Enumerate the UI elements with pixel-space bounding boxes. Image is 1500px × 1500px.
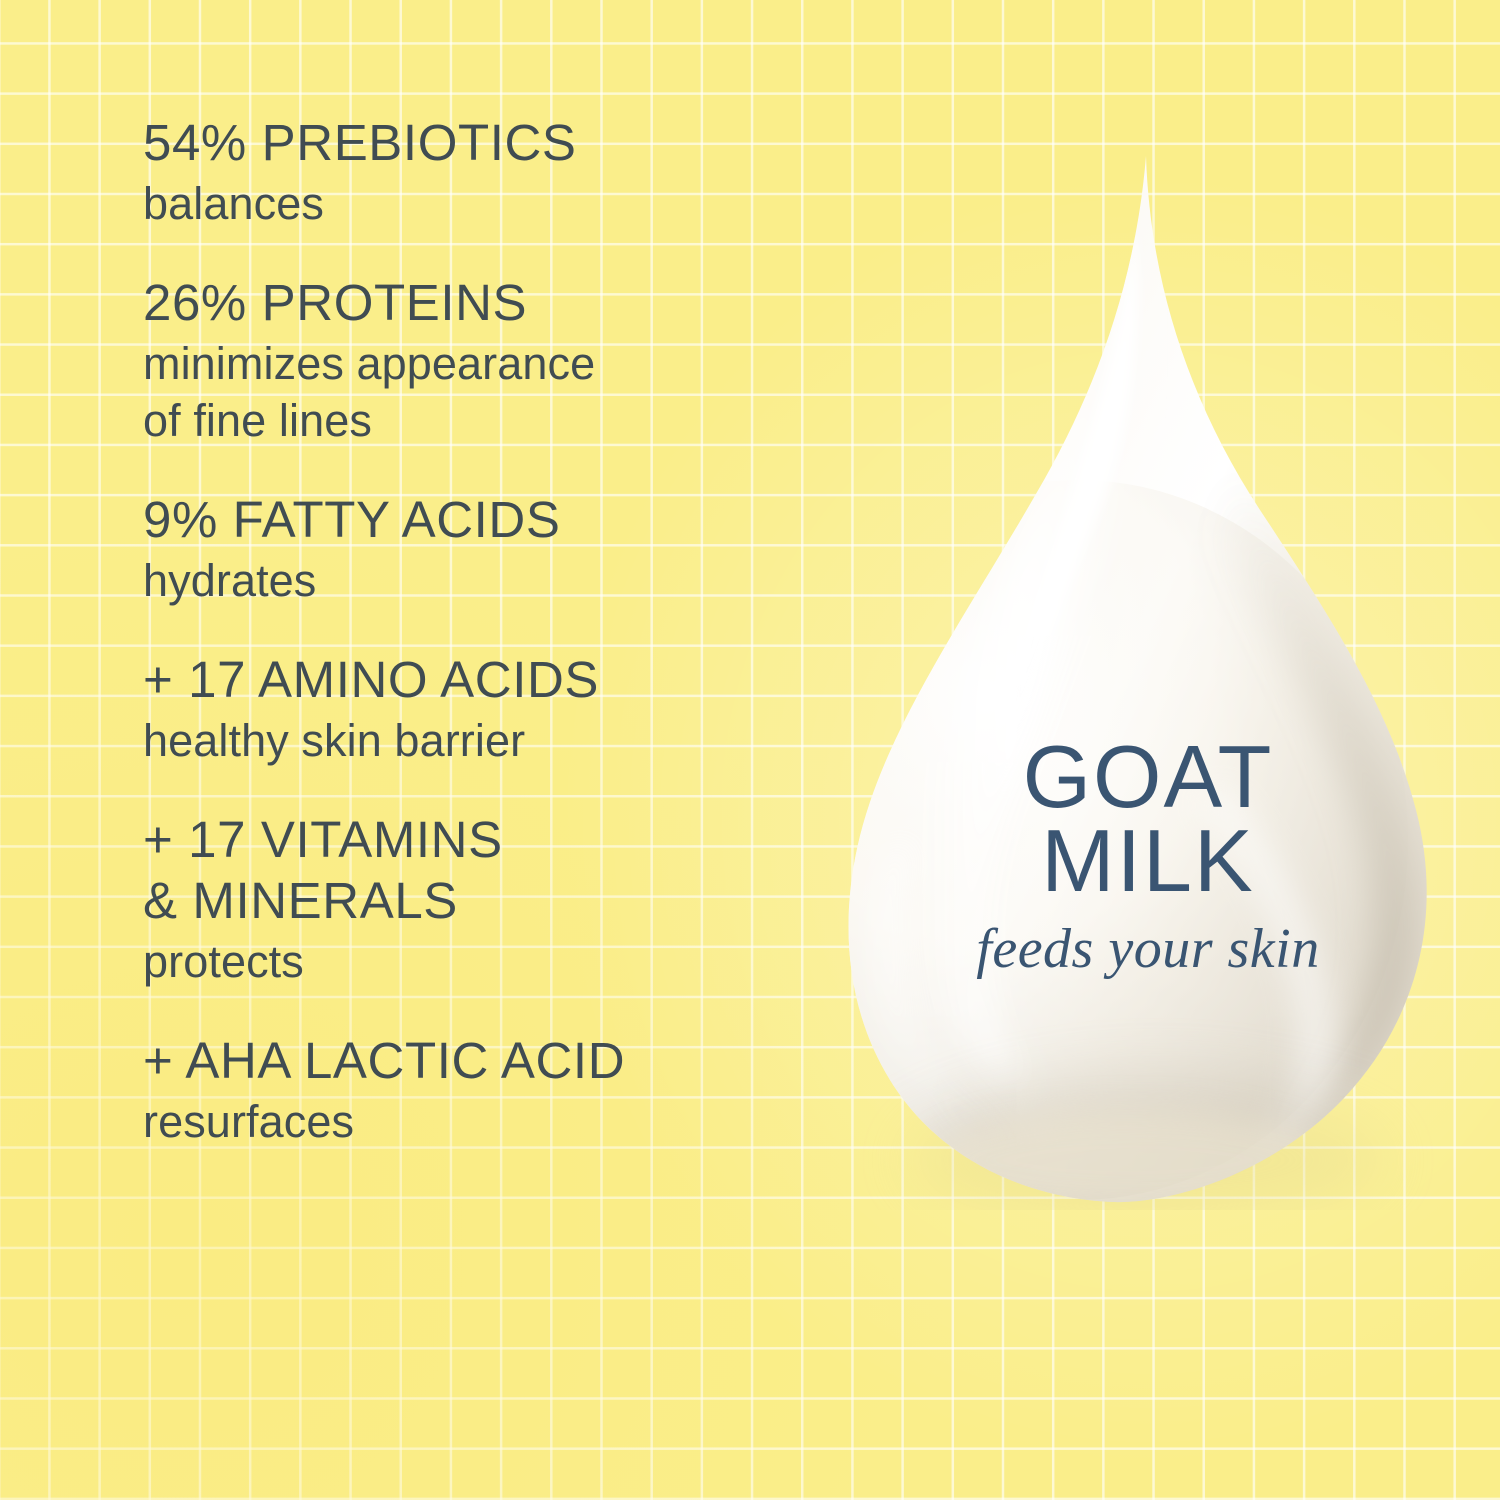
ingredient-title: 54% PREBIOTICS	[143, 112, 863, 173]
ingredient-item-aha-lactic-acid: + AHA LACTIC ACID resurfaces	[143, 1030, 863, 1150]
ingredient-title: + 17 VITAMINS & MINERALS	[143, 809, 863, 931]
ingredient-item-proteins: 26% PROTEINS minimizes appearance of fin…	[143, 272, 863, 449]
ingredient-benefit: healthy skin barrier	[143, 712, 863, 769]
ingredient-title: 26% PROTEINS	[143, 272, 863, 333]
ingredient-benefit: protects	[143, 933, 863, 990]
ingredient-item-prebiotics: 54% PREBIOTICS balances	[143, 112, 863, 232]
ingredient-title: + AHA LACTIC ACID	[143, 1030, 863, 1091]
ingredient-list: 54% PREBIOTICS balances 26% PROTEINS min…	[143, 112, 863, 1150]
ingredient-title: + 17 AMINO ACIDS	[143, 649, 863, 710]
ingredient-benefit: minimizes appearance of fine lines	[143, 335, 863, 449]
ingredient-benefit: hydrates	[143, 552, 863, 609]
ingredient-benefit: resurfaces	[143, 1093, 863, 1150]
ingredient-item-fatty-acids: 9% FATTY ACIDS hydrates	[143, 489, 863, 609]
milk-droplet-illustration: GOAT MILK feeds your skin	[828, 150, 1468, 1210]
ingredient-benefit: balances	[143, 175, 863, 232]
ingredient-item-vitamins-minerals: + 17 VITAMINS & MINERALS protects	[143, 809, 863, 990]
droplet-icon	[828, 150, 1468, 1210]
ingredient-item-amino-acids: + 17 AMINO ACIDS healthy skin barrier	[143, 649, 863, 769]
ingredient-title: 9% FATTY ACIDS	[143, 489, 863, 550]
